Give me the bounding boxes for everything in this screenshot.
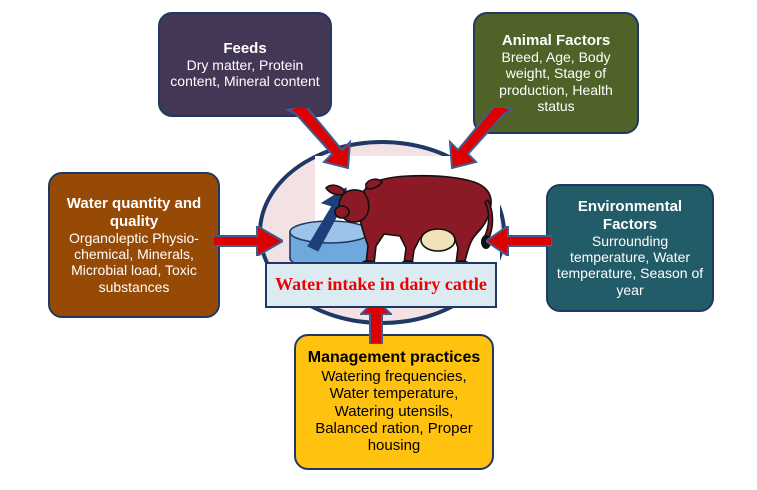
diagram-canvas: Feeds Dry matter, Protein content, Miner…	[0, 0, 757, 490]
node-water-quantity-quality[interactable]: Water quantity and quality Organoleptic …	[48, 172, 220, 318]
node-feeds[interactable]: Feeds Dry matter, Protein content, Miner…	[158, 12, 332, 117]
node-environmental-factors-title: Environmental Factors	[554, 198, 706, 233]
node-environmental-factors[interactable]: Environmental Factors Surrounding temper…	[546, 184, 714, 312]
center-caption: Water intake in dairy cattle	[265, 262, 497, 308]
arrow-environmental-to-center	[486, 226, 552, 256]
node-feeds-body: Dry matter, Protein content, Mineral con…	[166, 57, 324, 89]
arrow-water-to-center	[213, 226, 283, 256]
arrow-animal-to-center	[438, 108, 514, 174]
node-management-practices-title: Management practices	[308, 349, 481, 368]
node-animal-factors-body: Breed, Age, Body weight, Stage of produc…	[481, 49, 631, 114]
node-feeds-title: Feeds	[223, 40, 266, 57]
node-water-quantity-quality-title: Water quantity and quality	[56, 195, 212, 230]
node-environmental-factors-body: Surrounding temperature, Water temperatu…	[554, 233, 706, 298]
node-water-quantity-quality-body: Organoleptic Physio-chemical, Minerals, …	[56, 230, 212, 295]
node-management-practices[interactable]: Management practices Watering frequencie…	[294, 334, 494, 470]
arrow-feeds-to-center	[286, 108, 352, 170]
node-management-practices-body: Watering frequencies, Water temperature,…	[302, 368, 486, 455]
node-animal-factors-title: Animal Factors	[502, 32, 610, 49]
